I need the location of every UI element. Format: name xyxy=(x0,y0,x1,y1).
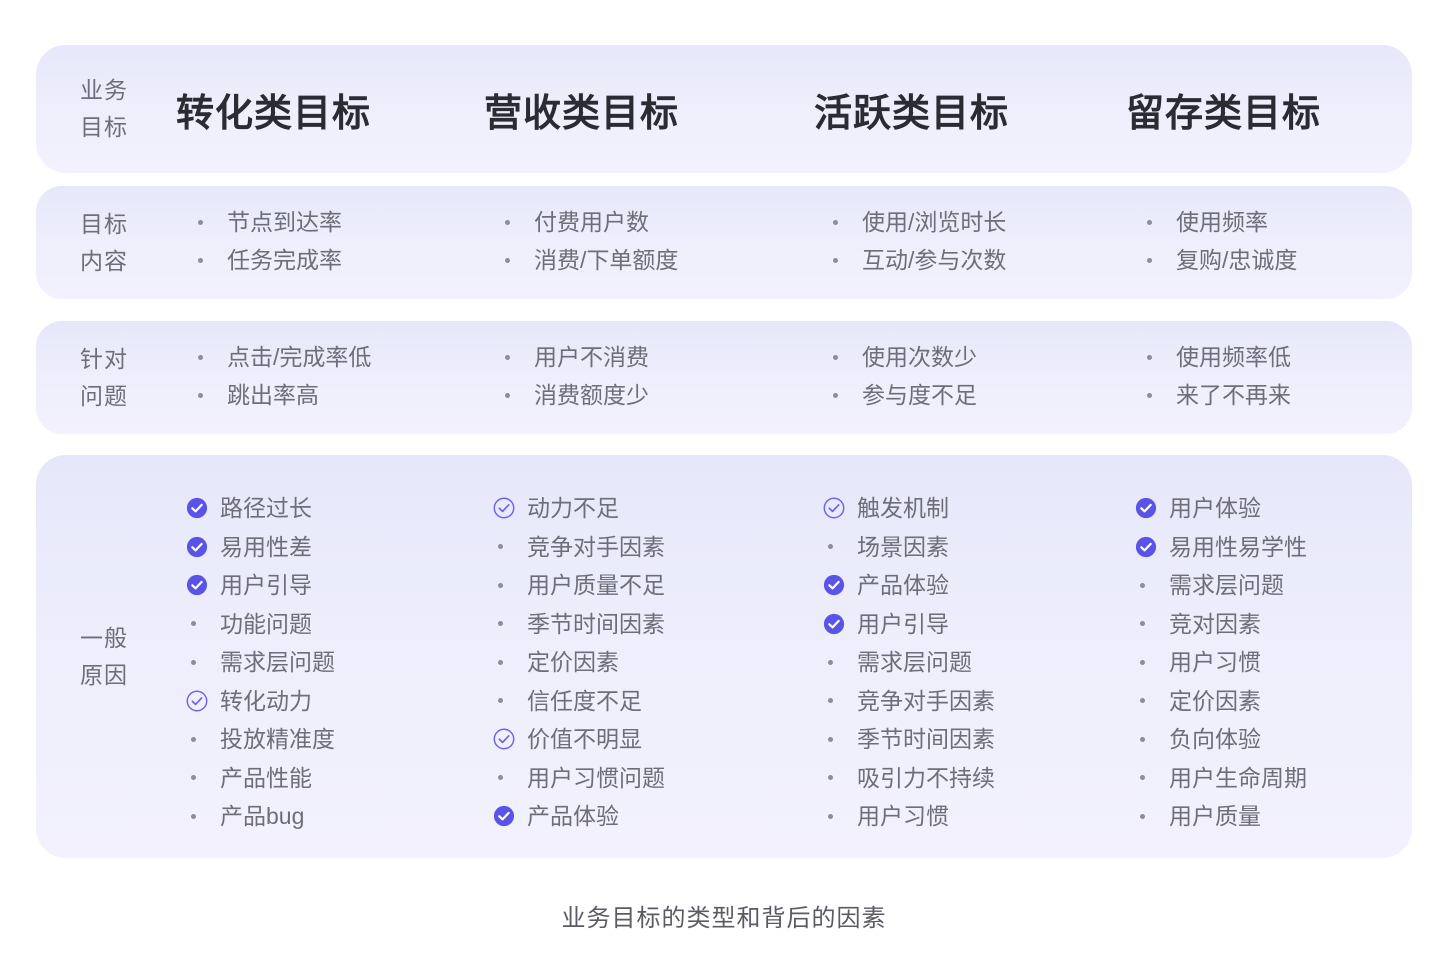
bullet-dot-icon xyxy=(500,203,534,241)
list-item-label: 使用频率低 xyxy=(1176,338,1291,376)
bullet-dot xyxy=(498,621,503,626)
bullet-dot xyxy=(1140,583,1145,588)
list-item-label: 产品bug xyxy=(220,797,304,836)
cell-goal-content-activity: 使用/浏览时长互动/参与次数 xyxy=(828,203,1006,279)
check-circle-filled-icon xyxy=(1135,489,1169,527)
list-item-label: 用户习惯 xyxy=(857,797,949,836)
bullet-dot xyxy=(828,544,833,549)
bullet-dot-icon xyxy=(1135,720,1169,758)
bullet-dot-icon xyxy=(823,528,857,566)
bullet-dot xyxy=(191,737,196,742)
list-item: 使用频率 xyxy=(1142,203,1297,241)
list-item: 用户体验 xyxy=(1135,489,1307,528)
list-item-label: 产品体验 xyxy=(857,566,949,605)
bullet-dot-icon xyxy=(1142,376,1176,414)
check-circle-filled-icon xyxy=(1135,528,1169,566)
bullet-dot xyxy=(828,775,833,780)
list-item-label: 信任度不足 xyxy=(527,682,642,721)
list-item: 复购/忠诚度 xyxy=(1142,241,1297,279)
list-item: 来了不再来 xyxy=(1142,376,1291,414)
bullet-dot-icon xyxy=(1142,338,1176,376)
list-item: 用户引导 xyxy=(823,605,995,644)
check-circle-outline-icon xyxy=(186,682,220,720)
bullet-dot xyxy=(198,393,203,398)
bullet-dot xyxy=(498,583,503,588)
bullet-dot xyxy=(198,258,203,263)
list-item: 节点到达率 xyxy=(193,203,342,241)
list-item: 产品体验 xyxy=(493,797,665,836)
list-item: 易用性差 xyxy=(186,528,335,567)
list-item-label: 竞争对手因素 xyxy=(857,682,995,721)
bullet-dot xyxy=(498,775,503,780)
bullet-dot xyxy=(1140,660,1145,665)
list-item: 用户习惯 xyxy=(823,797,995,836)
check-circle-outline-icon xyxy=(493,720,527,758)
bullet-dot-icon xyxy=(1135,605,1169,643)
bullet-dot xyxy=(498,698,503,703)
list-item: 需求层问题 xyxy=(823,643,995,682)
bullet-dot xyxy=(1140,737,1145,742)
bullet-dot-icon xyxy=(193,338,227,376)
bullet-dot xyxy=(833,258,838,263)
list-item-label: 使用频率 xyxy=(1176,203,1268,241)
list-item: 跳出率高 xyxy=(193,376,371,414)
list-item: 定价因素 xyxy=(493,643,665,682)
list-item-label: 功能问题 xyxy=(220,605,312,644)
bullet-dot-icon xyxy=(1135,682,1169,720)
list-item-label: 付费用户数 xyxy=(534,203,649,241)
cell-general-cause-activity: 触发机制场景因素产品体验用户引导需求层问题竞争对手因素季节时间因素吸引力不持续用… xyxy=(823,489,995,836)
list-item-label: 产品性能 xyxy=(220,759,312,798)
list-item: 消费额度少 xyxy=(500,376,649,414)
cell-target-problem-revenue: 用户不消费消费额度少 xyxy=(500,338,649,414)
bullet-dot xyxy=(1147,258,1152,263)
bullet-dot-icon xyxy=(1135,566,1169,604)
row-label-line1: 一般 xyxy=(80,620,128,657)
bullet-dot xyxy=(833,393,838,398)
bullet-dot-icon xyxy=(823,797,857,835)
bullet-dot xyxy=(191,775,196,780)
list-item: 用户不消费 xyxy=(500,338,649,376)
bullet-dot xyxy=(828,814,833,819)
bullet-dot-icon xyxy=(186,605,220,643)
row-label-line2: 问题 xyxy=(80,378,128,415)
bullet-dot xyxy=(1147,355,1152,360)
bullet-dot-icon xyxy=(186,720,220,758)
bullet-dot-icon xyxy=(493,528,527,566)
list-item: 用户质量 xyxy=(1135,797,1307,836)
bullet-dot-icon xyxy=(193,376,227,414)
list-item: 投放精准度 xyxy=(186,720,335,759)
list-item: 动力不足 xyxy=(493,489,665,528)
check-circle-filled-icon xyxy=(186,528,220,566)
bullet-dot-icon xyxy=(500,338,534,376)
list-item-label: 用户体验 xyxy=(1169,489,1261,528)
list-item: 吸引力不持续 xyxy=(823,759,995,798)
list-item-label: 定价因素 xyxy=(1169,682,1261,721)
bullet-dot-icon xyxy=(1135,797,1169,835)
bullet-dot-icon xyxy=(500,376,534,414)
check-circle-filled-icon xyxy=(186,566,220,604)
bullet-dot-icon xyxy=(493,682,527,720)
bullet-dot-icon xyxy=(828,338,862,376)
cell-target-problem-activity: 使用次数少参与度不足 xyxy=(828,338,977,414)
list-item: 用户习惯 xyxy=(1135,643,1307,682)
list-item-label: 用户质量不足 xyxy=(527,566,665,605)
list-item-label: 价值不明显 xyxy=(527,720,642,759)
list-item: 互动/参与次数 xyxy=(828,241,1006,279)
list-item-label: 点击/完成率低 xyxy=(227,338,371,376)
cell-goal-content-conversion: 节点到达率任务完成率 xyxy=(193,203,342,279)
list-item-label: 动力不足 xyxy=(527,489,619,528)
bullet-dot xyxy=(498,544,503,549)
check-circle-filled-icon xyxy=(823,566,857,604)
check-circle-filled-icon xyxy=(493,797,527,835)
check-circle-filled-icon xyxy=(823,605,857,643)
list-item: 需求层问题 xyxy=(186,643,335,682)
list-item-label: 用户不消费 xyxy=(534,338,649,376)
list-item-label: 触发机制 xyxy=(857,489,949,528)
bullet-dot xyxy=(498,660,503,665)
bullet-dot xyxy=(828,737,833,742)
bullet-dot xyxy=(1147,393,1152,398)
bullet-dot xyxy=(505,355,510,360)
bullet-dot-icon xyxy=(1135,643,1169,681)
list-item-label: 用户引导 xyxy=(857,605,949,644)
list-item-label: 使用/浏览时长 xyxy=(862,203,1006,241)
bullet-dot-icon xyxy=(186,797,220,835)
list-item-label: 竞争对手因素 xyxy=(527,528,665,567)
bullet-dot xyxy=(191,660,196,665)
list-item-label: 需求层问题 xyxy=(857,643,972,682)
cell-general-cause-revenue: 动力不足竞争对手因素用户质量不足季节时间因素定价因素信任度不足价值不明显用户习惯… xyxy=(493,489,665,836)
bullet-dot xyxy=(191,621,196,626)
bullet-dot-icon xyxy=(493,566,527,604)
bullet-dot xyxy=(1147,220,1152,225)
cell-target-problem-conversion: 点击/完成率低跳出率高 xyxy=(193,338,371,414)
list-item-label: 使用次数少 xyxy=(862,338,977,376)
column-header-retention: 留存类目标 xyxy=(1126,45,1321,173)
row-label-line2: 原因 xyxy=(80,657,128,694)
list-item-label: 需求层问题 xyxy=(1169,566,1284,605)
bullet-dot xyxy=(833,220,838,225)
bullet-dot-icon xyxy=(193,241,227,279)
header-row-label-line1: 业务 xyxy=(80,72,128,109)
list-item: 参与度不足 xyxy=(828,376,977,414)
list-item: 需求层问题 xyxy=(1135,566,1307,605)
list-item-label: 任务完成率 xyxy=(227,241,342,279)
list-item-label: 用户生命周期 xyxy=(1169,759,1307,798)
list-item-label: 投放精准度 xyxy=(220,720,335,759)
bullet-dot xyxy=(198,355,203,360)
bullet-dot xyxy=(828,698,833,703)
list-item: 产品bug xyxy=(186,797,335,836)
bullet-dot-icon xyxy=(823,759,857,797)
list-item: 竞对因素 xyxy=(1135,605,1307,644)
list-item: 定价因素 xyxy=(1135,682,1307,721)
bullet-dot xyxy=(1140,698,1145,703)
bullet-dot xyxy=(191,814,196,819)
list-item: 功能问题 xyxy=(186,605,335,644)
column-header-activity: 活跃类目标 xyxy=(814,45,1009,173)
row-label-line1: 针对 xyxy=(80,341,128,378)
list-item: 价值不明显 xyxy=(493,720,665,759)
list-item-label: 负向体验 xyxy=(1169,720,1261,759)
bullet-dot-icon xyxy=(186,643,220,681)
row-label-line1: 目标 xyxy=(80,206,128,243)
list-item: 产品性能 xyxy=(186,759,335,798)
list-item: 负向体验 xyxy=(1135,720,1307,759)
bullet-dot-icon xyxy=(493,605,527,643)
row-label-goal-content: 目标 内容 xyxy=(36,186,172,299)
infographic-table: 业务 目标 转化类目标 营收类目标 活跃类目标 留存类目标 目标 内容 节点到达… xyxy=(0,0,1448,966)
list-item-label: 易用性易学性 xyxy=(1169,528,1307,567)
list-item: 产品体验 xyxy=(823,566,995,605)
list-item-label: 产品体验 xyxy=(527,797,619,836)
cell-general-cause-retention: 用户体验易用性易学性需求层问题竞对因素用户习惯定价因素负向体验用户生命周期用户质… xyxy=(1135,489,1307,836)
bullet-dot-icon xyxy=(828,241,862,279)
bullet-dot xyxy=(828,660,833,665)
row-label-line2: 内容 xyxy=(80,243,128,280)
list-item: 消费/下单额度 xyxy=(500,241,678,279)
cell-general-cause-conversion: 路径过长易用性差用户引导功能问题需求层问题转化动力投放精准度产品性能产品bug xyxy=(186,489,335,836)
bullet-dot-icon xyxy=(193,203,227,241)
list-item-label: 节点到达率 xyxy=(227,203,342,241)
list-item-label: 季节时间因素 xyxy=(857,720,995,759)
bullet-dot-icon xyxy=(823,720,857,758)
column-header-revenue: 营收类目标 xyxy=(484,45,679,173)
list-item-label: 跳出率高 xyxy=(227,376,319,414)
header-row-label: 业务 目标 xyxy=(36,45,172,173)
list-item: 用户习惯问题 xyxy=(493,759,665,798)
list-item-label: 来了不再来 xyxy=(1176,376,1291,414)
cell-target-problem-retention: 使用频率低来了不再来 xyxy=(1142,338,1291,414)
list-item-label: 互动/参与次数 xyxy=(862,241,1006,279)
list-item: 路径过长 xyxy=(186,489,335,528)
list-item-label: 转化动力 xyxy=(220,682,312,721)
list-item-label: 需求层问题 xyxy=(220,643,335,682)
bullet-dot xyxy=(1140,775,1145,780)
list-item: 信任度不足 xyxy=(493,682,665,721)
list-item: 季节时间因素 xyxy=(493,605,665,644)
list-item: 季节时间因素 xyxy=(823,720,995,759)
list-item-label: 用户习惯 xyxy=(1169,643,1261,682)
header-row-label-line2: 目标 xyxy=(80,109,128,146)
bullet-dot xyxy=(198,220,203,225)
list-item: 转化动力 xyxy=(186,682,335,721)
list-item: 竞争对手因素 xyxy=(823,682,995,721)
list-item: 点击/完成率低 xyxy=(193,338,371,376)
figure-caption: 业务目标的类型和背后的因素 xyxy=(0,898,1448,933)
list-item: 使用次数少 xyxy=(828,338,977,376)
list-item-label: 定价因素 xyxy=(527,643,619,682)
bullet-dot xyxy=(833,355,838,360)
list-item-label: 复购/忠诚度 xyxy=(1176,241,1297,279)
list-item-label: 消费额度少 xyxy=(534,376,649,414)
bullet-dot-icon xyxy=(186,759,220,797)
list-item: 用户质量不足 xyxy=(493,566,665,605)
list-item-label: 参与度不足 xyxy=(862,376,977,414)
bullet-dot-icon xyxy=(1135,759,1169,797)
row-label-general-cause: 一般 原因 xyxy=(36,455,172,858)
bullet-dot-icon xyxy=(823,682,857,720)
list-item: 触发机制 xyxy=(823,489,995,528)
list-item-label: 用户引导 xyxy=(220,566,312,605)
bullet-dot-icon xyxy=(493,759,527,797)
list-item: 场景因素 xyxy=(823,528,995,567)
list-item: 用户生命周期 xyxy=(1135,759,1307,798)
list-item-label: 季节时间因素 xyxy=(527,605,665,644)
list-item-label: 场景因素 xyxy=(857,528,949,567)
bullet-dot-icon xyxy=(828,376,862,414)
list-item-label: 用户质量 xyxy=(1169,797,1261,836)
check-circle-filled-icon xyxy=(186,489,220,527)
list-item-label: 路径过长 xyxy=(220,489,312,528)
bullet-dot-icon xyxy=(493,643,527,681)
list-item: 使用频率低 xyxy=(1142,338,1291,376)
check-circle-outline-icon xyxy=(823,489,857,527)
list-item: 易用性易学性 xyxy=(1135,528,1307,567)
check-circle-outline-icon xyxy=(493,489,527,527)
bullet-dot xyxy=(1140,621,1145,626)
list-item-label: 消费/下单额度 xyxy=(534,241,678,279)
list-item-label: 用户习惯问题 xyxy=(527,759,665,798)
cell-goal-content-retention: 使用频率复购/忠诚度 xyxy=(1142,203,1297,279)
bullet-dot xyxy=(1140,814,1145,819)
column-header-conversion: 转化类目标 xyxy=(176,45,371,173)
list-item-label: 吸引力不持续 xyxy=(857,759,995,798)
list-item: 付费用户数 xyxy=(500,203,678,241)
bullet-dot xyxy=(505,220,510,225)
bullet-dot-icon xyxy=(828,203,862,241)
bullet-dot-icon xyxy=(823,643,857,681)
list-item-label: 易用性差 xyxy=(220,528,312,567)
bullet-dot-icon xyxy=(1142,241,1176,279)
bullet-dot xyxy=(505,393,510,398)
list-item: 使用/浏览时长 xyxy=(828,203,1006,241)
list-item: 用户引导 xyxy=(186,566,335,605)
row-label-target-problem: 针对 问题 xyxy=(36,321,172,434)
bullet-dot-icon xyxy=(1142,203,1176,241)
cell-goal-content-revenue: 付费用户数消费/下单额度 xyxy=(500,203,678,279)
list-item: 竞争对手因素 xyxy=(493,528,665,567)
bullet-dot xyxy=(505,258,510,263)
bullet-dot-icon xyxy=(500,241,534,279)
list-item: 任务完成率 xyxy=(193,241,342,279)
list-item-label: 竞对因素 xyxy=(1169,605,1261,644)
